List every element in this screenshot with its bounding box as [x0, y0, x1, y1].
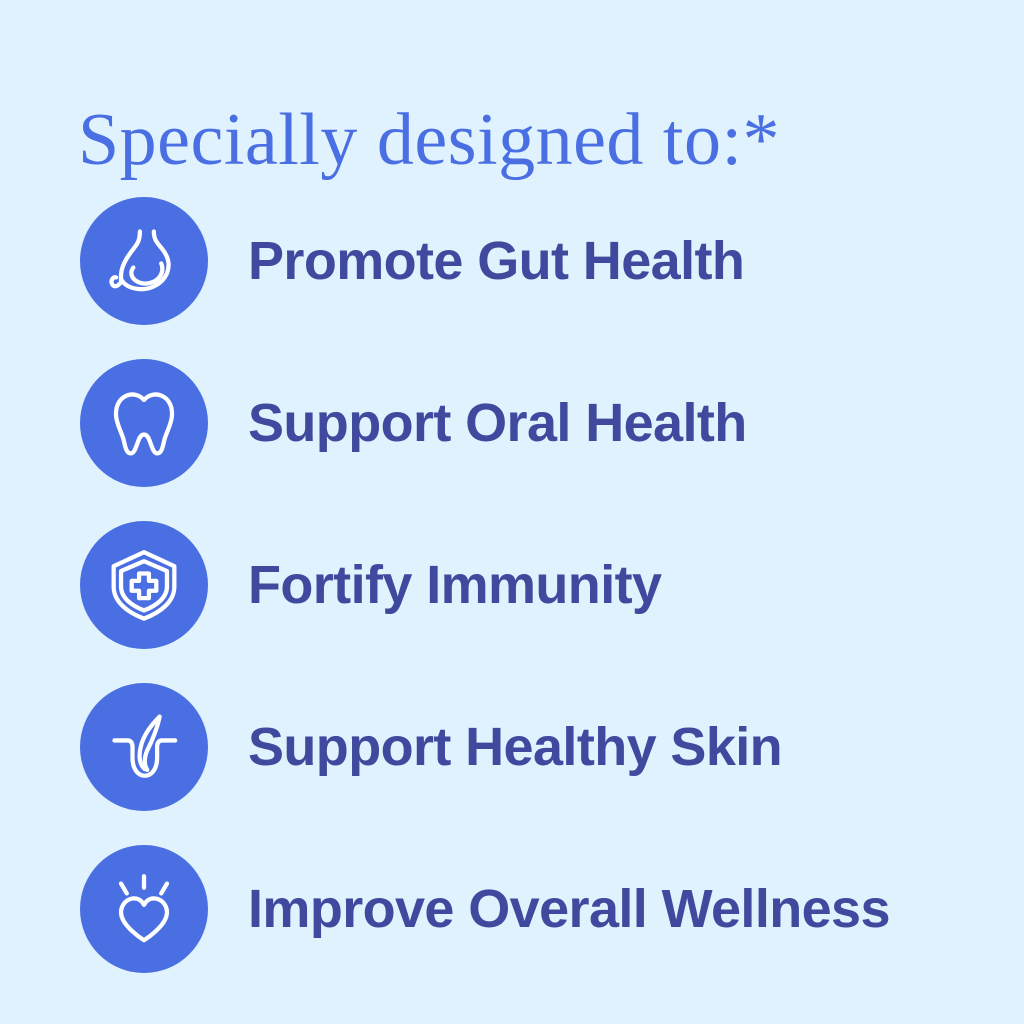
- list-item-label: Support Oral Health: [248, 392, 747, 454]
- list-item: Support Healthy Skin: [0, 666, 1024, 828]
- list-item: Promote Gut Health: [0, 180, 1024, 342]
- promo-panel: Specially designed to:* Promote Gut Heal…: [0, 0, 1024, 1024]
- hair-follicle-icon: [80, 683, 208, 811]
- list-item-label: Fortify Immunity: [248, 554, 661, 616]
- list-item-label: Support Healthy Skin: [248, 716, 782, 778]
- stomach-icon: [80, 197, 208, 325]
- shining-heart-icon: [80, 845, 208, 973]
- benefits-list: Promote Gut Health Support Oral Health F…: [0, 180, 1024, 990]
- list-item: Fortify Immunity: [0, 504, 1024, 666]
- tooth-icon: [80, 359, 208, 487]
- list-item: Improve Overall Wellness: [0, 828, 1024, 990]
- list-item-label: Improve Overall Wellness: [248, 878, 890, 940]
- list-item-label: Promote Gut Health: [248, 230, 744, 292]
- shield-plus-icon: [80, 521, 208, 649]
- page-title: Specially designed to:*: [78, 102, 780, 180]
- list-item: Support Oral Health: [0, 342, 1024, 504]
